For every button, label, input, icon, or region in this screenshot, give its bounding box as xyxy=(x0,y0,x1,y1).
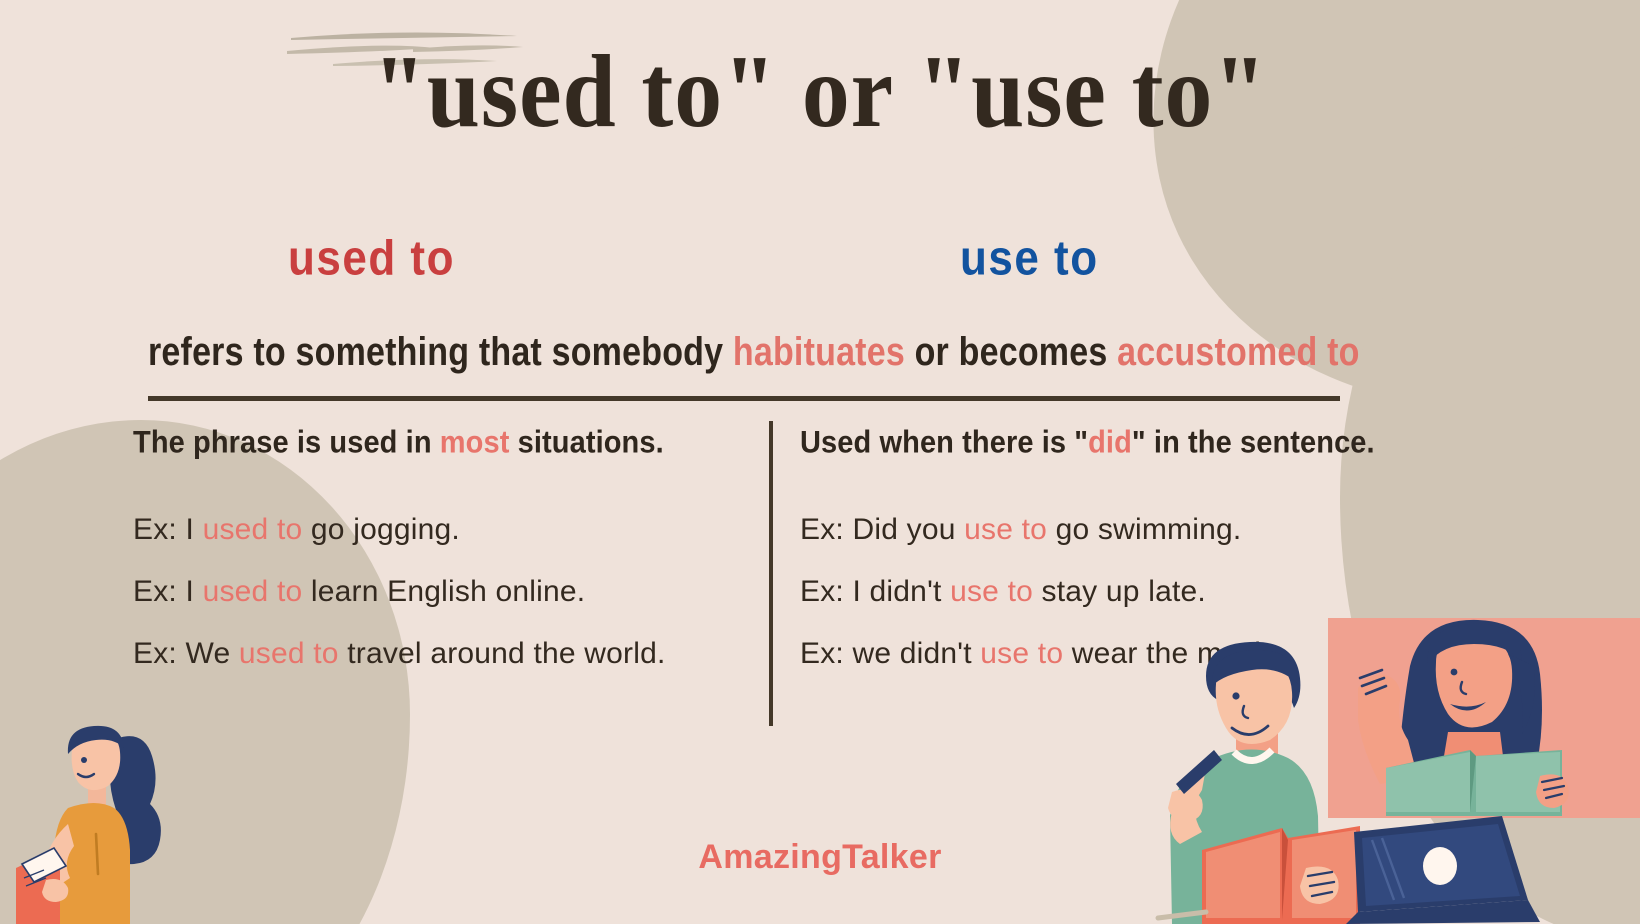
list-item: Ex: I used to learn English online. xyxy=(133,572,743,611)
horizontal-divider xyxy=(148,396,1340,401)
left-heading-text-1: The phrase is used in xyxy=(133,425,440,460)
left-example-list: Ex: I used to go jogging. Ex: I used to … xyxy=(133,510,743,673)
list-item: Ex: I used to go jogging. xyxy=(133,510,743,549)
right-heading-text-2: " in the sentence. xyxy=(1132,425,1375,460)
example-highlight: used to xyxy=(203,575,303,608)
list-item: Ex: Did you use to go swimming. xyxy=(800,510,1480,549)
left-heading-highlight: most xyxy=(440,425,510,460)
example-highlight: used to xyxy=(239,637,339,670)
left-heading-text-2: situations. xyxy=(509,425,663,460)
infographic-canvas: "used to" or "use to" used to use to ref… xyxy=(0,0,1640,924)
subtitle-highlight-habituates: habituates xyxy=(733,330,905,374)
right-heading-highlight: did xyxy=(1088,425,1132,460)
illustration-girl-reading xyxy=(10,700,210,924)
example-suffix: learn English online. xyxy=(302,575,585,608)
example-prefix: Ex: I didn't xyxy=(800,575,950,608)
subtitle-text-2: or becomes xyxy=(905,330,1117,374)
list-item: Ex: We used to travel around the world. xyxy=(133,634,743,673)
example-highlight: use to xyxy=(980,637,1063,670)
vertical-divider xyxy=(769,421,773,726)
right-column-heading: Used when there is "did" in the sentence… xyxy=(800,425,1480,461)
example-prefix: Ex: I xyxy=(133,575,203,608)
example-highlight: use to xyxy=(964,513,1047,546)
example-suffix: travel around the world. xyxy=(339,637,666,670)
heading-use-to: use to xyxy=(960,231,1099,287)
subtitle-highlight-accustomed: accustomed to xyxy=(1117,330,1360,374)
subtitle-definition: refers to something that somebody habitu… xyxy=(148,330,1348,375)
heading-used-to: used to xyxy=(288,231,455,287)
right-heading-text-1: Used when there is " xyxy=(800,425,1088,460)
left-column-heading: The phrase is used in most situations. xyxy=(133,425,743,461)
example-prefix: Ex: I xyxy=(133,513,203,546)
illustration-students xyxy=(1110,600,1640,924)
example-highlight: used to xyxy=(203,513,303,546)
example-prefix: Ex: We xyxy=(133,637,239,670)
example-suffix: go jogging. xyxy=(302,513,460,546)
example-suffix: go swimming. xyxy=(1047,513,1241,546)
column-used-to: The phrase is used in most situations. E… xyxy=(133,425,743,696)
subtitle-text-1: refers to something that somebody xyxy=(148,330,733,374)
example-prefix: Ex: we didn't xyxy=(800,637,980,670)
page-title: "used to" or "use to" xyxy=(66,40,1575,144)
example-highlight: use to xyxy=(950,575,1033,608)
example-prefix: Ex: Did you xyxy=(800,513,964,546)
